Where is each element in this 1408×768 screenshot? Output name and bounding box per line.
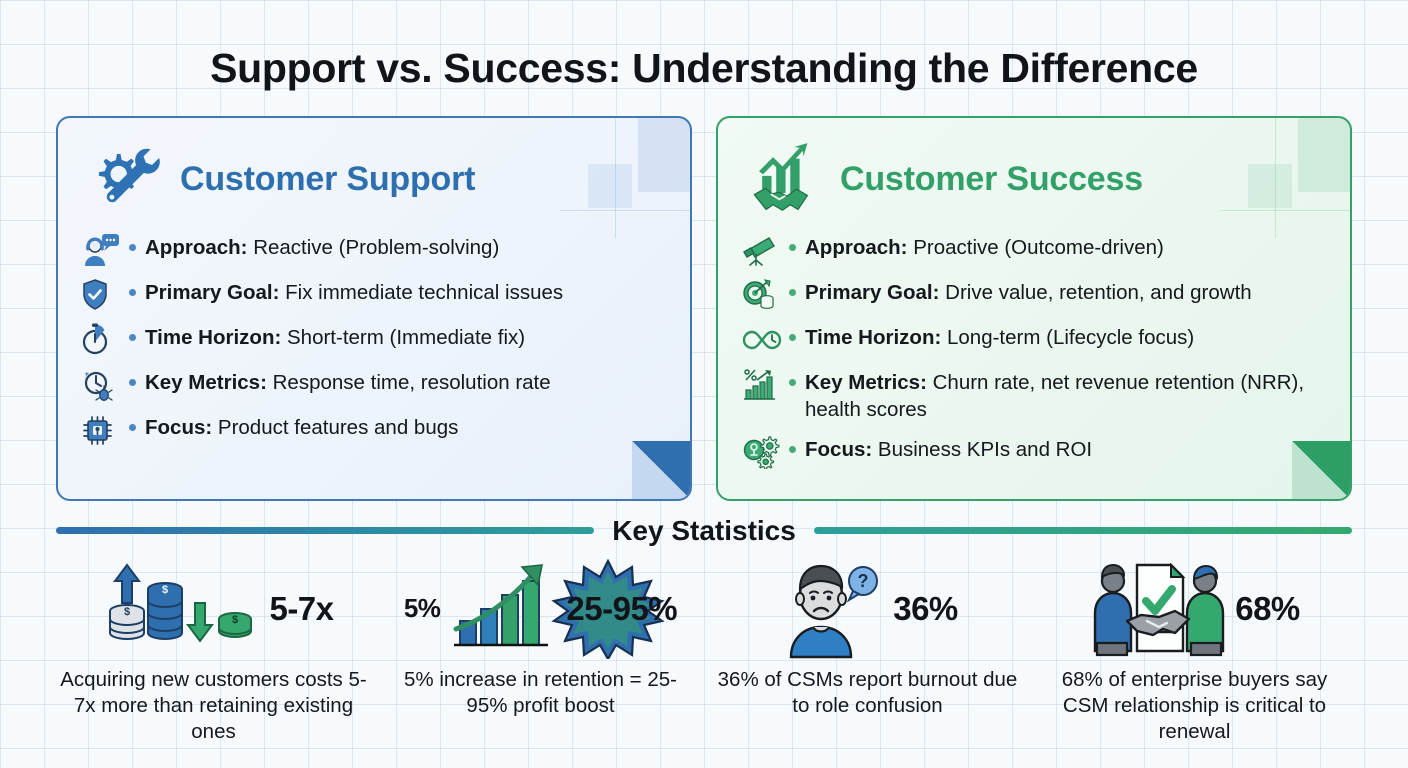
- stopwatch-icon: [82, 323, 122, 357]
- headset-agent-icon: [82, 233, 122, 267]
- divider-label: Key Statistics: [612, 515, 796, 547]
- stat-csm-burnout: ? 36% 36% of CSMs report burnout due to …: [704, 559, 1031, 746]
- list-item-label: Primary Goal:: [145, 281, 279, 304]
- stat-renewal-relationship: 68% 68% of enterprise buyers say CSM rel…: [1031, 559, 1358, 746]
- stat-visual: ? 36%: [712, 559, 1023, 659]
- target-coins-icon: [742, 278, 782, 312]
- bullet-dot: [129, 334, 136, 341]
- sad-person-question-icon: ?: [777, 559, 887, 659]
- bullet-dot: [789, 379, 796, 386]
- bullet-dot: [789, 289, 796, 296]
- stat-value-secondary: 25-95%: [566, 590, 677, 628]
- list-item: Approach: Reactive (Problem-solving): [82, 232, 666, 267]
- comparison-cards: Customer Support App: [0, 91, 1408, 501]
- page-title: Support vs. Success: Understanding the D…: [0, 0, 1408, 91]
- clock-bug-icon: [82, 368, 122, 402]
- list-item-label: Key Metrics:: [805, 371, 927, 394]
- list-item-label: Focus:: [805, 438, 872, 461]
- list-item-value: Fix immediate technical issues: [285, 281, 563, 304]
- telescope-icon: [742, 233, 782, 267]
- list-item: Time Horizon: Long-term (Lifecycle focus…: [742, 322, 1326, 357]
- bullet-dot: [129, 424, 136, 431]
- card-title-support: Customer Support: [180, 160, 475, 199]
- statistics-row: $ $ $ 5-7x Acquiring new cust: [0, 547, 1408, 746]
- list-item-label: Primary Goal:: [805, 281, 939, 304]
- list-item-value: Long-term (Lifecycle focus): [947, 326, 1194, 349]
- list-item-label: Key Metrics:: [145, 371, 267, 394]
- list-item-value: Reactive (Problem-solving): [253, 236, 499, 259]
- list-item-label: Time Horizon:: [805, 326, 941, 349]
- bullet-dot: [129, 244, 136, 251]
- list-item-text: Primary Goal: Fix immediate technical is…: [145, 277, 563, 306]
- list-item-text: Time Horizon: Short-term (Immediate fix): [145, 322, 525, 351]
- percent-bar-chart-icon: [742, 368, 782, 402]
- list-item-text: Key Metrics: Response time, resolution r…: [145, 367, 551, 396]
- list-item: Approach: Proactive (Outcome-driven): [742, 232, 1326, 267]
- svg-text:$: $: [232, 614, 238, 626]
- card-header-support: Customer Support: [82, 140, 666, 218]
- success-bullet-list: Approach: Proactive (Outcome-driven): [742, 232, 1326, 469]
- bullet-dot: [789, 244, 796, 251]
- list-item-value: Proactive (Outcome-driven): [913, 236, 1164, 259]
- list-item-label: Approach:: [145, 236, 248, 259]
- divider-bar-right: [814, 527, 1352, 534]
- card-customer-success: Customer Success Approach: Proactive (Ou…: [716, 116, 1352, 501]
- list-item-text: Approach: Reactive (Problem-solving): [145, 232, 499, 261]
- list-item-text: Key Metrics: Churn rate, net revenue ret…: [805, 367, 1326, 424]
- bullet-dot: [129, 289, 136, 296]
- card-header-success: Customer Success: [742, 140, 1326, 218]
- list-item: Key Metrics: Churn rate, net revenue ret…: [742, 367, 1326, 424]
- list-item-text: Time Horizon: Long-term (Lifecycle focus…: [805, 322, 1194, 351]
- list-item-text: Focus: Business KPIs and ROI: [805, 434, 1092, 463]
- stat-visual: $ $ $ 5-7x: [58, 559, 369, 659]
- list-item-value: Business KPIs and ROI: [878, 438, 1092, 461]
- list-item-label: Approach:: [805, 236, 908, 259]
- list-item-label: Focus:: [145, 416, 212, 439]
- card-customer-support: Customer Support App: [56, 116, 692, 501]
- stat-caption: 36% of CSMs report burnout due to role c…: [712, 667, 1023, 719]
- coin-stacks-arrows-icon: $ $ $: [93, 559, 263, 659]
- shield-check-icon: [82, 278, 122, 312]
- list-item-value: Response time, resolution rate: [273, 371, 551, 394]
- stat-value: 36%: [893, 590, 958, 628]
- list-item: Focus: Business KPIs and ROI: [742, 434, 1326, 469]
- divider-bar-left: [56, 527, 594, 534]
- list-item: Key Metrics: Response time, resolution r…: [82, 367, 666, 402]
- bullet-dot: [789, 446, 796, 453]
- list-item: Primary Goal: Fix immediate technical is…: [82, 277, 666, 312]
- handshake-document-check-icon: [1089, 559, 1229, 659]
- svg-text:$: $: [124, 606, 130, 618]
- gear-wrench-icon: [82, 140, 166, 218]
- list-item: Focus: Product features and bugs: [82, 412, 666, 447]
- bullet-dot: [789, 334, 796, 341]
- stat-caption: 5% increase in retention = 25-95% profit…: [385, 667, 696, 719]
- list-item: Primary Goal: Drive value, retention, an…: [742, 277, 1326, 312]
- stat-visual: 68%: [1039, 559, 1350, 659]
- stat-value-primary: 5%: [404, 593, 441, 624]
- stat-caption: Acquiring new customers costs 5-7x more …: [58, 667, 369, 746]
- stat-value: 5-7x: [269, 590, 333, 628]
- list-item-value: Drive value, retention, and growth: [945, 281, 1252, 304]
- list-item: Time Horizon: Short-term (Immediate fix): [82, 322, 666, 357]
- microchip-icon: [82, 413, 122, 447]
- list-item-label: Time Horizon:: [145, 326, 281, 349]
- stat-caption: 68% of enterprise buyers say CSM relatio…: [1039, 667, 1350, 746]
- stat-visual: 5% 25-95%: [385, 559, 696, 659]
- svg-text:?: ?: [858, 571, 869, 591]
- gears-analytics-icon: [742, 435, 782, 469]
- list-item-text: Primary Goal: Drive value, retention, an…: [805, 277, 1252, 306]
- svg-text:$: $: [162, 584, 168, 596]
- rising-bar-chart-burst-icon: [446, 559, 556, 659]
- support-bullet-list: Approach: Reactive (Problem-solving) Pri…: [82, 232, 666, 447]
- bullet-dot: [129, 379, 136, 386]
- stat-value: 68%: [1235, 590, 1300, 628]
- list-item-value: Product features and bugs: [218, 416, 458, 439]
- growth-chart-handshake-icon: [742, 140, 826, 218]
- stat-retention-profit: 5% 25-95% 5% increase in retention = 25-…: [377, 559, 704, 746]
- stat-acquisition-cost: $ $ $ 5-7x Acquiring new cust: [50, 559, 377, 746]
- card-title-success: Customer Success: [840, 160, 1143, 199]
- corner-fold-decoration: [632, 441, 690, 499]
- list-item-text: Approach: Proactive (Outcome-driven): [805, 232, 1164, 261]
- list-item-text: Focus: Product features and bugs: [145, 412, 458, 441]
- key-statistics-divider: Key Statistics: [0, 501, 1408, 547]
- list-item-value: Short-term (Immediate fix): [287, 326, 525, 349]
- infinity-clock-icon: [742, 323, 782, 357]
